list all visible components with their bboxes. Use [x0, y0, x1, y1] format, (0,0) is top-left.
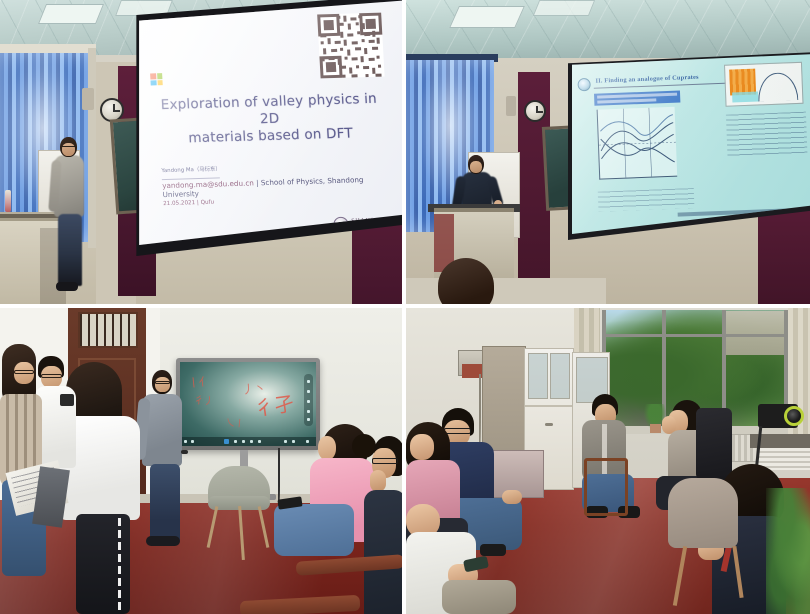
cabinet-handle[interactable] [545, 423, 553, 426]
ceiling-light [533, 0, 595, 16]
person-shoulder-print [60, 394, 74, 406]
eyeglasses-icon [62, 146, 75, 149]
screen-glare [131, 0, 402, 250]
person-face [410, 434, 434, 460]
eyeglasses-icon [155, 381, 170, 384]
curtain-rail [0, 44, 96, 53]
photo-panel-top-left: Exploration of valley physics in 2D mate… [0, 0, 402, 304]
office-chair [696, 408, 732, 480]
potted-plant-floor [766, 488, 810, 614]
person-legs-jeans [274, 504, 354, 556]
screen-glare [572, 54, 810, 234]
presenter-watch [181, 450, 188, 454]
cabinet-glass-door [528, 353, 548, 399]
lap-bag [442, 580, 516, 614]
smart-display-toolbar[interactable] [180, 437, 316, 446]
wooden-chair [584, 458, 628, 516]
person-hand-chin [370, 470, 386, 492]
presenter-shoes [146, 536, 180, 546]
cabinet-divider [525, 405, 575, 407]
eyeglasses-icon [444, 428, 471, 434]
wall-speaker [82, 88, 94, 110]
speaker-face [470, 161, 482, 173]
wall-clock [524, 100, 546, 122]
ceiling-light [38, 4, 104, 24]
photo-panel-bottom-left: 丨亻 彳丿 丿丶 彳孑 乀丨 [0, 308, 402, 614]
person-face [318, 436, 336, 460]
photo-collage: Exploration of valley physics in 2D mate… [0, 0, 810, 614]
person-shoes [480, 544, 506, 556]
speaker-shoes [56, 282, 78, 291]
presenter-legs [150, 464, 180, 544]
person-legs [76, 514, 130, 614]
person-hand [502, 490, 522, 504]
photo-panel-top-right: II. Finding an analogue of Cuprates [406, 0, 810, 304]
handwriting-annotation: 彳丿 [194, 391, 215, 407]
chair-back [668, 478, 738, 548]
presenter-face [155, 377, 170, 392]
smart-display-screen: 丨亻 彳丿 丿丶 彳孑 乀丨 [180, 362, 316, 446]
camera-lens-icon [784, 406, 804, 426]
wall-speaker [506, 96, 516, 116]
eyeglasses-icon [14, 370, 34, 374]
handwriting-annotation: 丨亻 [187, 373, 211, 391]
eyeglasses-icon [41, 374, 62, 378]
window-transom [602, 334, 788, 337]
person-torso-dark [364, 490, 402, 614]
ceiling-light [449, 6, 525, 28]
building-outside [724, 311, 788, 355]
speaker-legs [58, 214, 82, 286]
flower-pot [650, 424, 661, 433]
eyeglasses-icon [372, 458, 398, 464]
track-pants-stripe [118, 518, 121, 610]
photo-panel-bottom-right [406, 308, 810, 614]
smart-display-side-toolbar[interactable] [304, 374, 313, 426]
window-frame [88, 48, 96, 248]
handwriting-annotation: 乀丨 [225, 415, 244, 430]
cabinet-glass-door [550, 353, 570, 399]
door-grille [78, 312, 138, 348]
speaker-face [62, 143, 75, 156]
water-bottle [5, 190, 11, 212]
handwriting-annotation: 彳孑 [252, 387, 296, 421]
stage-platform [406, 278, 606, 304]
